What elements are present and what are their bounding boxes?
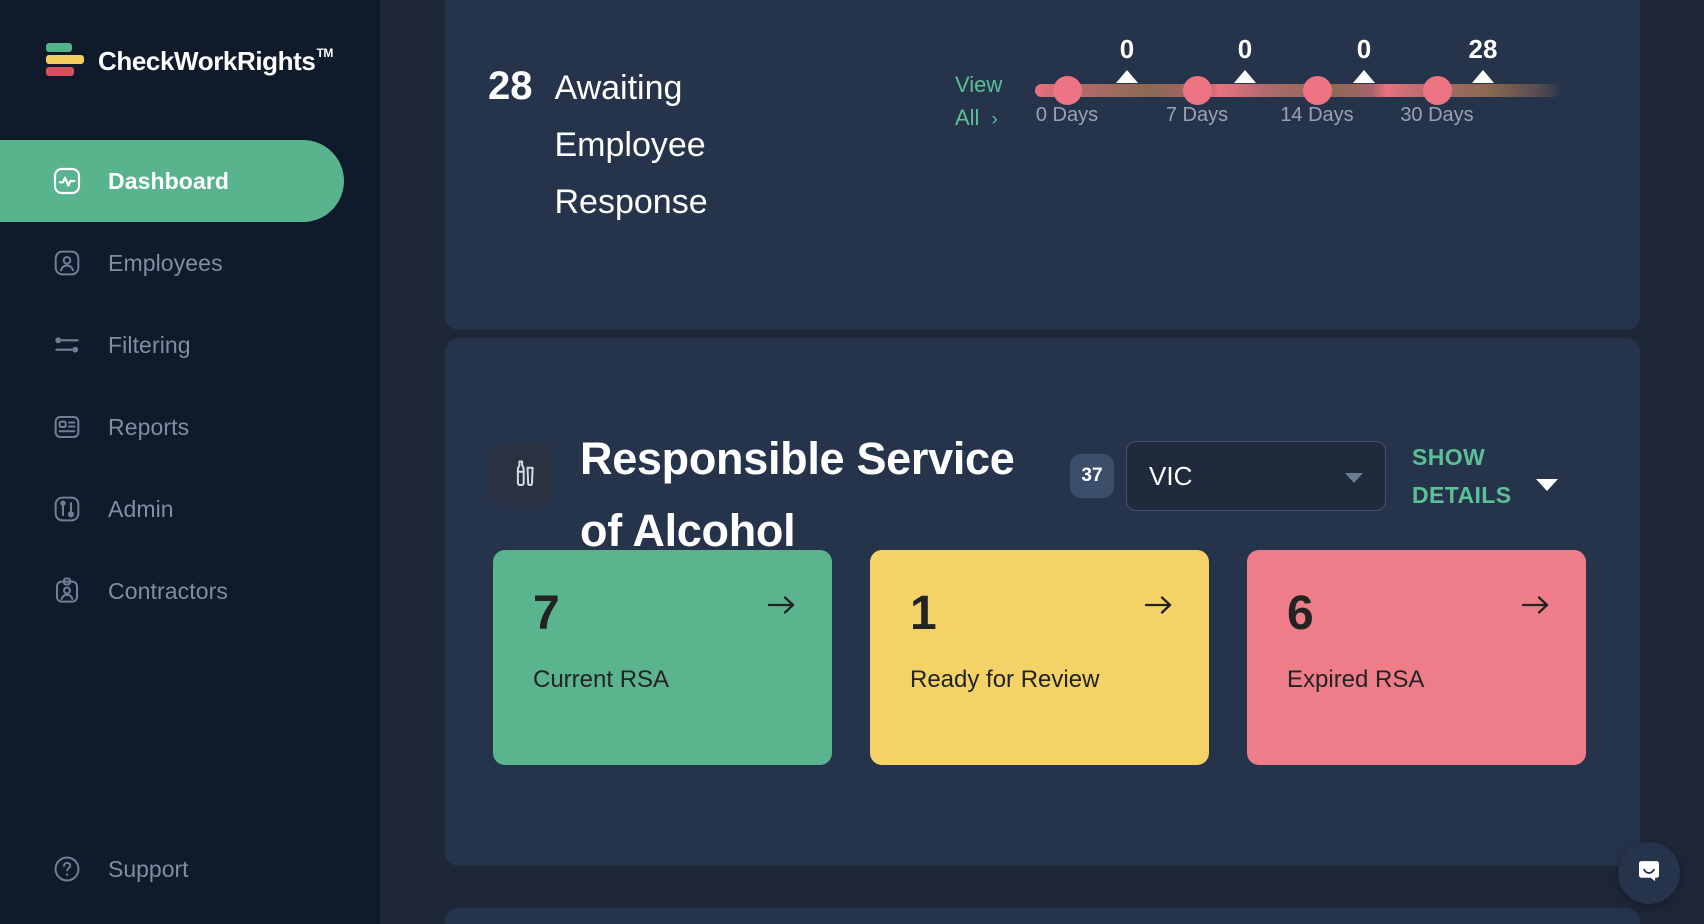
awaiting-summary: 28 Awaiting Employee Response [488,60,745,231]
rsa-card: Responsible Service of Alcohol 37 VIC SH… [445,338,1640,866]
sidebar-item-label: Dashboard [108,170,229,193]
timeline-dot [1183,76,1212,105]
rsa-controls: 37 VIC SHOW DETAILS [1070,438,1558,514]
timeline-dot [1303,76,1332,105]
sidebar-item-filtering[interactable]: Filtering [0,304,344,386]
admin-tools-icon [50,492,84,526]
stat-tile-expired-rsa[interactable]: 6 Expired RSA [1247,550,1586,765]
sidebar-item-admin[interactable]: Admin [0,468,344,550]
timeline-tick-icon [1472,70,1494,83]
checkworkrights-logo-icon [46,43,84,79]
question-circle-icon [50,852,84,886]
rsa-count-badge: 37 [1070,454,1114,498]
next-card-partial [445,908,1640,924]
id-card-icon [50,574,84,608]
timeline-tick-icon [1116,70,1138,83]
timeline-value: 28 [1453,34,1513,65]
brand-logo[interactable]: CheckWorkRightsTM [0,0,380,80]
awaiting-label: Awaiting Employee Response [555,60,745,231]
arrow-right-icon[interactable] [766,592,798,623]
brand-name-text: CheckWorkRights [98,46,315,76]
arrow-right-icon[interactable] [1520,592,1552,623]
state-select-value: VIC [1149,461,1192,492]
activity-monitor-icon [50,164,84,198]
timeline-dot [1423,76,1452,105]
timeline-tick-icon [1353,70,1375,83]
chevron-right-icon: › [991,103,997,136]
stat-tile-value: 7 [533,590,802,638]
timeline-value: 0 [1097,34,1157,65]
state-select[interactable]: VIC [1126,441,1386,511]
stat-tile-value: 6 [1287,590,1556,638]
sidebar-item-label: Reports [108,416,189,439]
stat-tile-label: Ready for Review [910,662,1100,697]
timeline-dot [1053,76,1082,105]
stat-tile-label: Expired RSA [1287,662,1477,697]
sliders-icon [50,328,84,362]
user-badge-icon [50,246,84,280]
sidebar-item-label: Filtering [108,334,191,357]
trademark-symbol: TM [316,46,333,60]
awaiting-count: 28 [488,60,533,112]
sidebar-nav: Dashboard Employees [0,140,380,632]
report-card-icon [50,410,84,444]
chevron-down-icon [1345,473,1363,483]
sidebar-item-employees[interactable]: Employees [0,222,344,304]
sidebar-item-reports[interactable]: Reports [0,386,344,468]
rsa-header: Responsible Service of Alcohol [491,423,1050,567]
chat-bubble-smile-icon [1633,855,1665,892]
awaiting-response-card: 28 Awaiting Employee Response View All› … [445,0,1640,330]
sidebar-item-dashboard[interactable]: Dashboard [0,140,344,222]
sidebar: CheckWorkRightsTM Dashboard [0,0,380,924]
stat-tile-current-rsa[interactable]: 7 Current RSA [493,550,832,765]
sidebar-item-label: Support [108,858,189,881]
stat-tile-value: 1 [910,590,1179,638]
sidebar-item-label: Admin [108,498,174,521]
rsa-title: Responsible Service of Alcohol [580,423,1050,567]
timeline-value: 0 [1215,34,1275,65]
timeline-category-label: 0 Days [1007,104,1127,127]
brand-name: CheckWorkRightsTM [98,46,332,77]
app-root: CheckWorkRightsTM Dashboard [0,0,1704,924]
sidebar-item-label: Contractors [108,580,228,603]
main-content: 28 Awaiting Employee Response View All› … [380,0,1704,924]
timeline-category-label: 7 Days [1137,104,1257,127]
rsa-stat-tiles: 7 Current RSA 1 Ready for Review [493,550,1586,765]
timeline-category-label: 30 Days [1377,104,1497,127]
timeline-value: 0 [1334,34,1394,65]
sidebar-item-support[interactable]: Support [0,852,189,886]
sidebar-item-label: Employees [108,252,223,275]
show-details-button[interactable]: SHOW DETAILS [1412,438,1522,514]
stat-tile-ready-for-review[interactable]: 1 Ready for Review [870,550,1209,765]
arrow-right-icon[interactable] [1143,592,1175,623]
stat-tile-label: Current RSA [533,662,723,697]
intercom-launcher-button[interactable] [1618,842,1680,904]
timeline-tick-icon [1234,70,1256,83]
bottle-and-glass-icon [491,443,553,505]
ageing-timeline-chart: 0 0 0 28 0 Days 7 Days 14 Days 30 Days [1035,28,1560,138]
sidebar-item-contractors[interactable]: Contractors [0,550,344,632]
chevron-down-icon[interactable] [1536,479,1558,491]
timeline-category-label: 14 Days [1257,104,1377,127]
timeline-track [1035,84,1560,97]
